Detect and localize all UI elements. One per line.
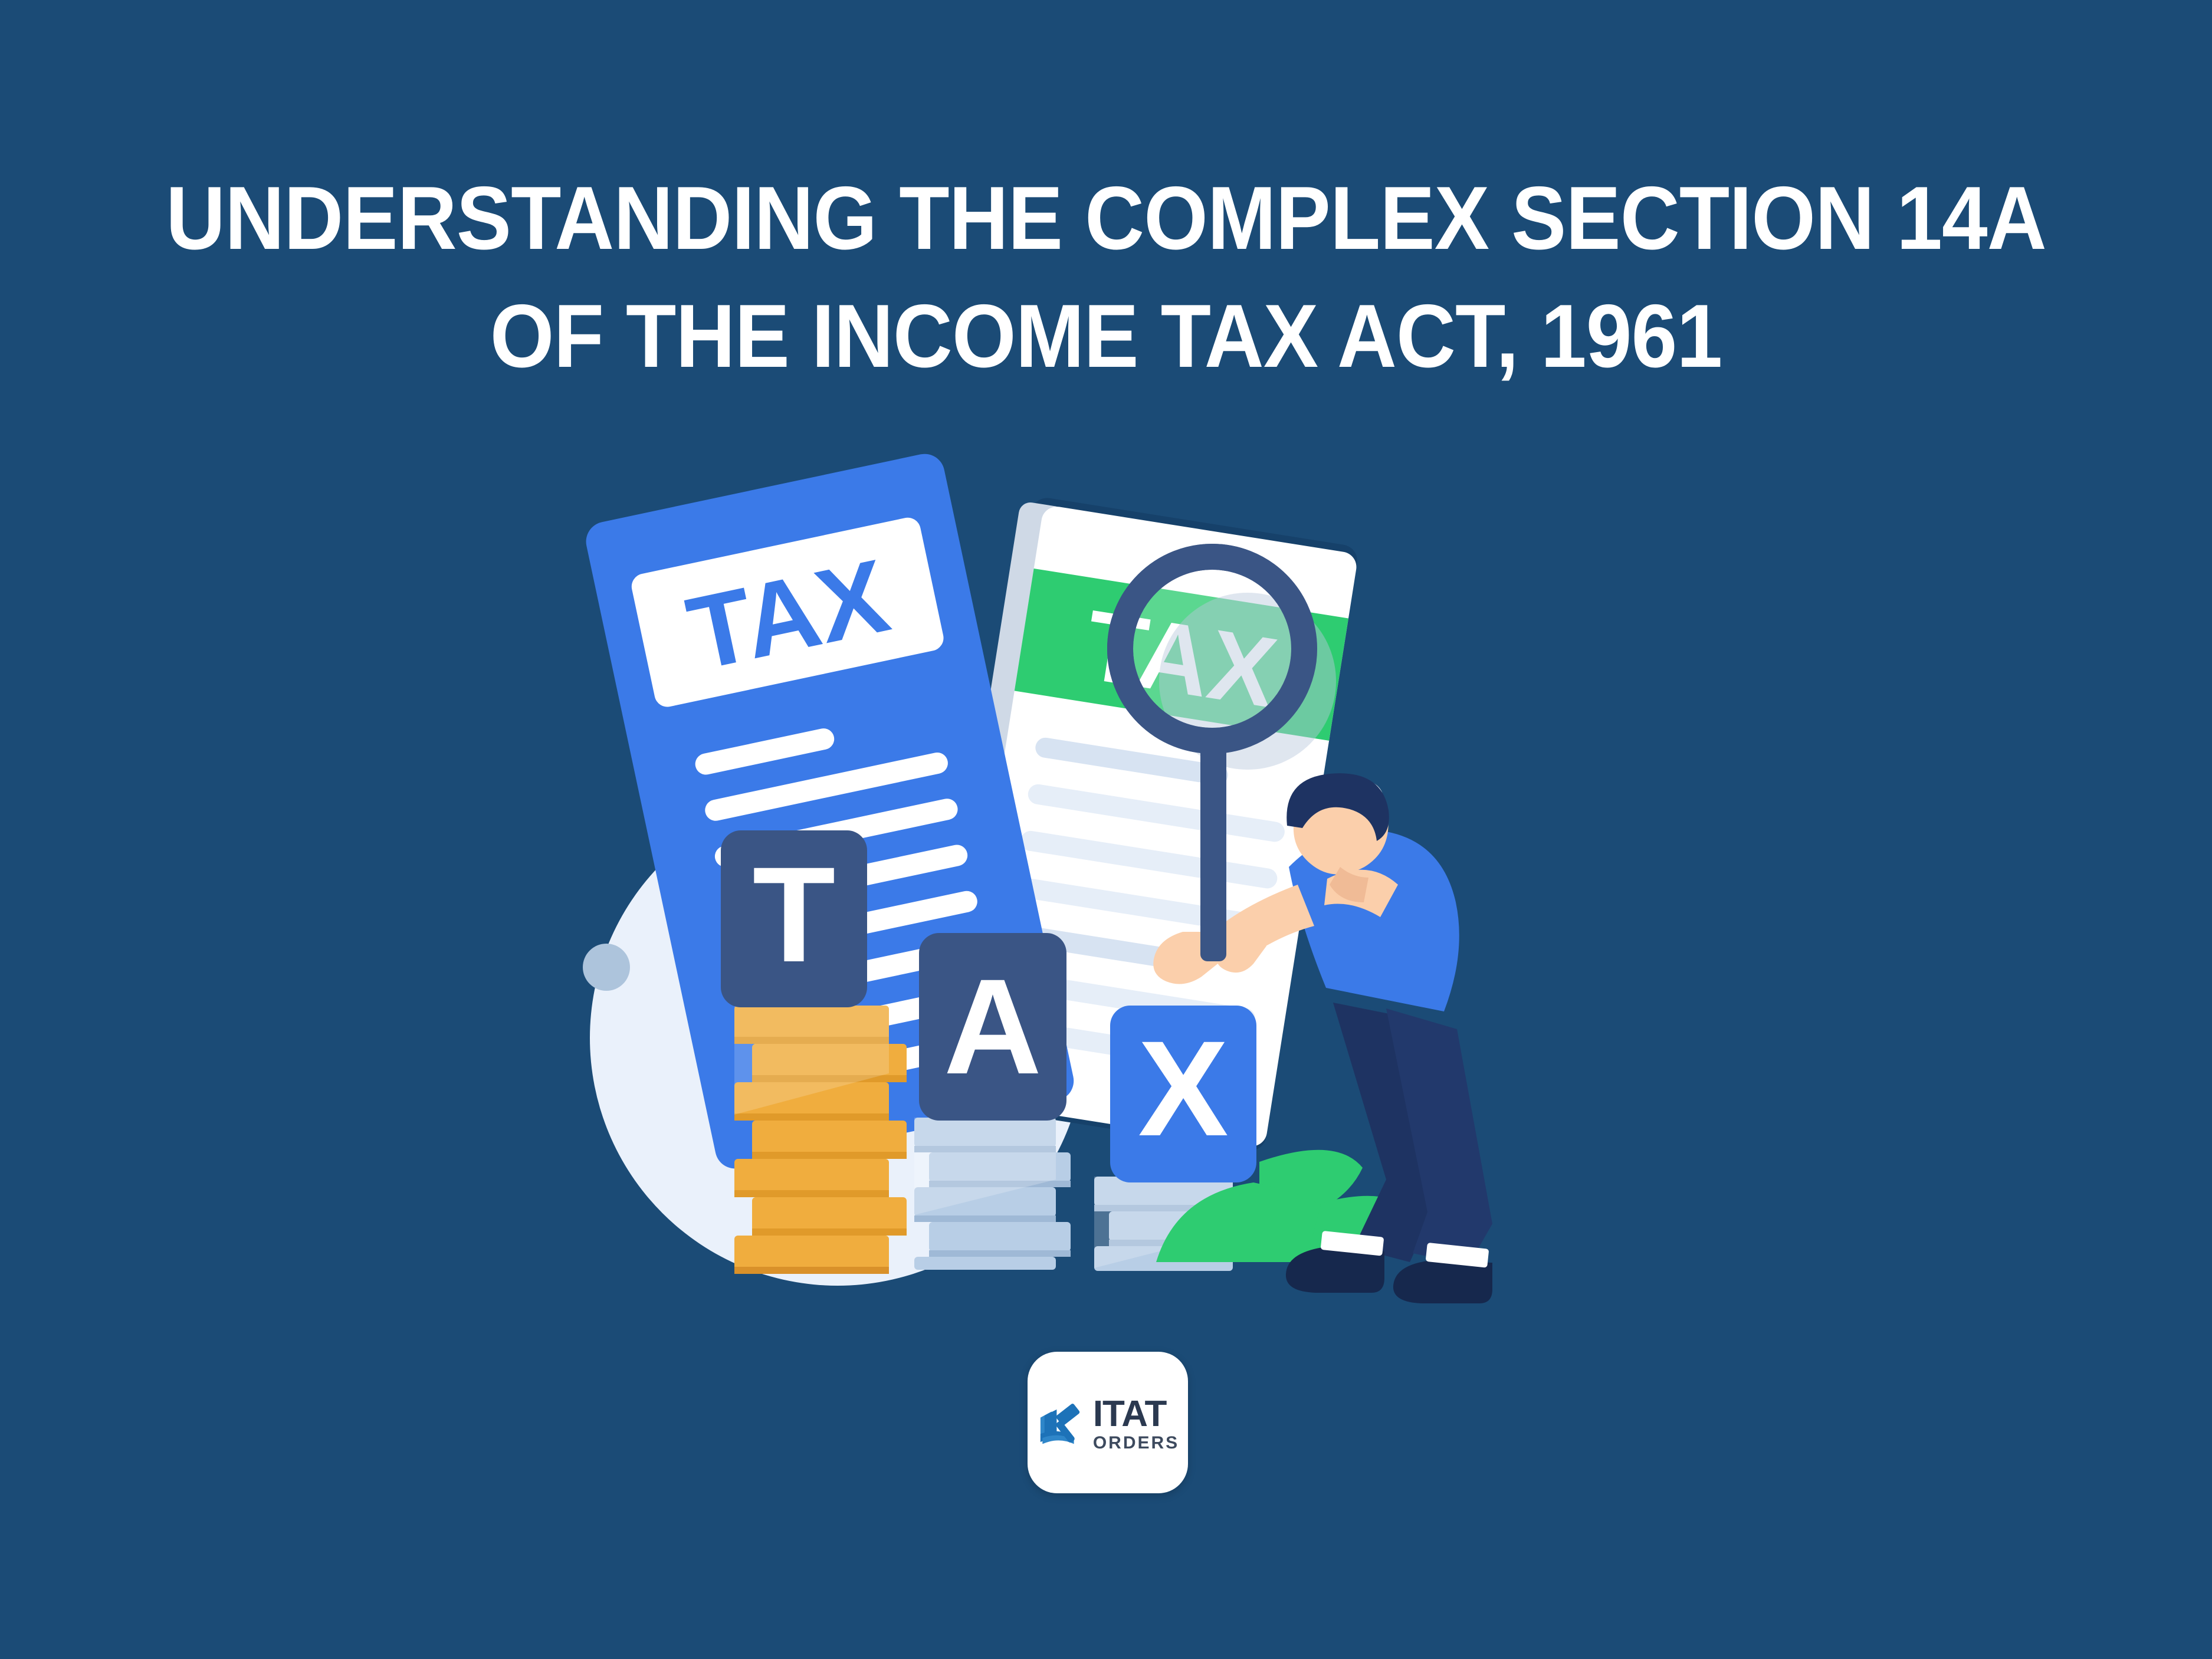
- poster-canvas: UNDERSTANDING THE COMPLEX SECTION 14A OF…: [0, 0, 2212, 1659]
- page-title: UNDERSTANDING THE COMPLEX SECTION 14A OF…: [0, 159, 2212, 395]
- title-line-1: UNDERSTANDING THE COMPLEX SECTION 14A: [88, 159, 2124, 277]
- letter-block-x: X: [1110, 1006, 1256, 1182]
- letter-block-t-label: T: [753, 839, 836, 990]
- gold-coin-stack: [734, 1006, 907, 1274]
- small-accent-circle: [583, 944, 630, 991]
- title-line-2: OF THE INCOME TAX ACT, 1961: [88, 277, 2124, 395]
- letter-block-a-label: A: [944, 951, 1042, 1102]
- tax-audit-illustration: TAX TAX: [560, 413, 1681, 1356]
- letter-block-a: A: [919, 933, 1066, 1121]
- letter-block-t: T: [721, 830, 867, 1007]
- silver-coin-stack-a: [914, 1118, 1071, 1270]
- gavel-book-icon: [1036, 1398, 1087, 1449]
- itat-orders-logo[interactable]: ITAT ORDERS: [1028, 1352, 1188, 1493]
- logo-primary-text: ITAT: [1093, 1396, 1167, 1433]
- letter-block-x-label: X: [1138, 1013, 1228, 1164]
- logo-secondary-text: ORDERS: [1093, 1434, 1179, 1452]
